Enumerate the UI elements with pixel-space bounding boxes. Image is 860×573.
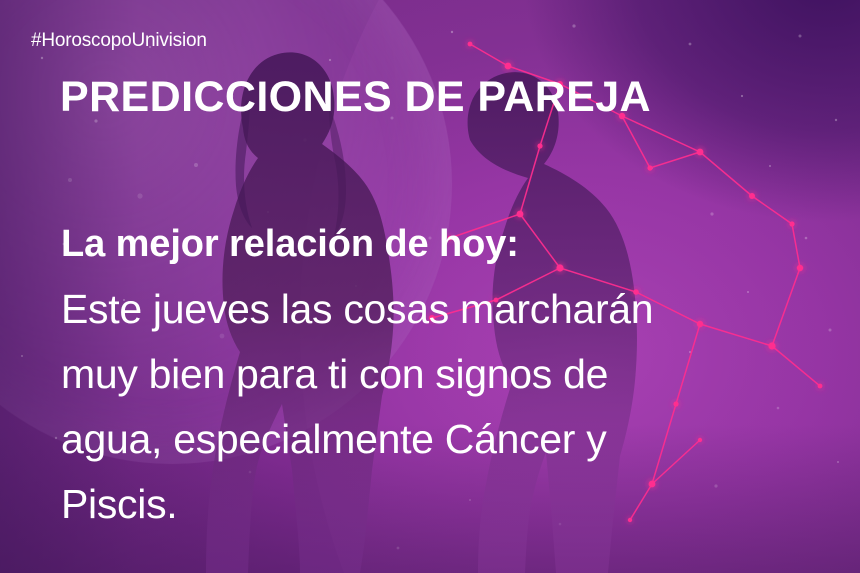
prediction-lead: La mejor relación de hoy:	[61, 212, 801, 277]
text-content: #HoroscopoUnivision PREDICCIONES DE PARE…	[0, 0, 860, 573]
page-title: PREDICCIONES DE PAREJA	[60, 74, 651, 120]
prediction-line-1: Este jueves las cosas marcharán	[61, 277, 801, 342]
prediction-line-4: Piscis.	[61, 472, 801, 537]
prediction-text-block: La mejor relación de hoy: Este jueves la…	[61, 212, 801, 537]
prediction-line-2: muy bien para ti con signos de	[61, 342, 801, 407]
horoscope-card: #HoroscopoUnivision PREDICCIONES DE PARE…	[0, 0, 860, 573]
prediction-line-3: agua, especialmente Cáncer y	[61, 407, 801, 472]
hashtag-label: #HoroscopoUnivision	[31, 30, 207, 52]
